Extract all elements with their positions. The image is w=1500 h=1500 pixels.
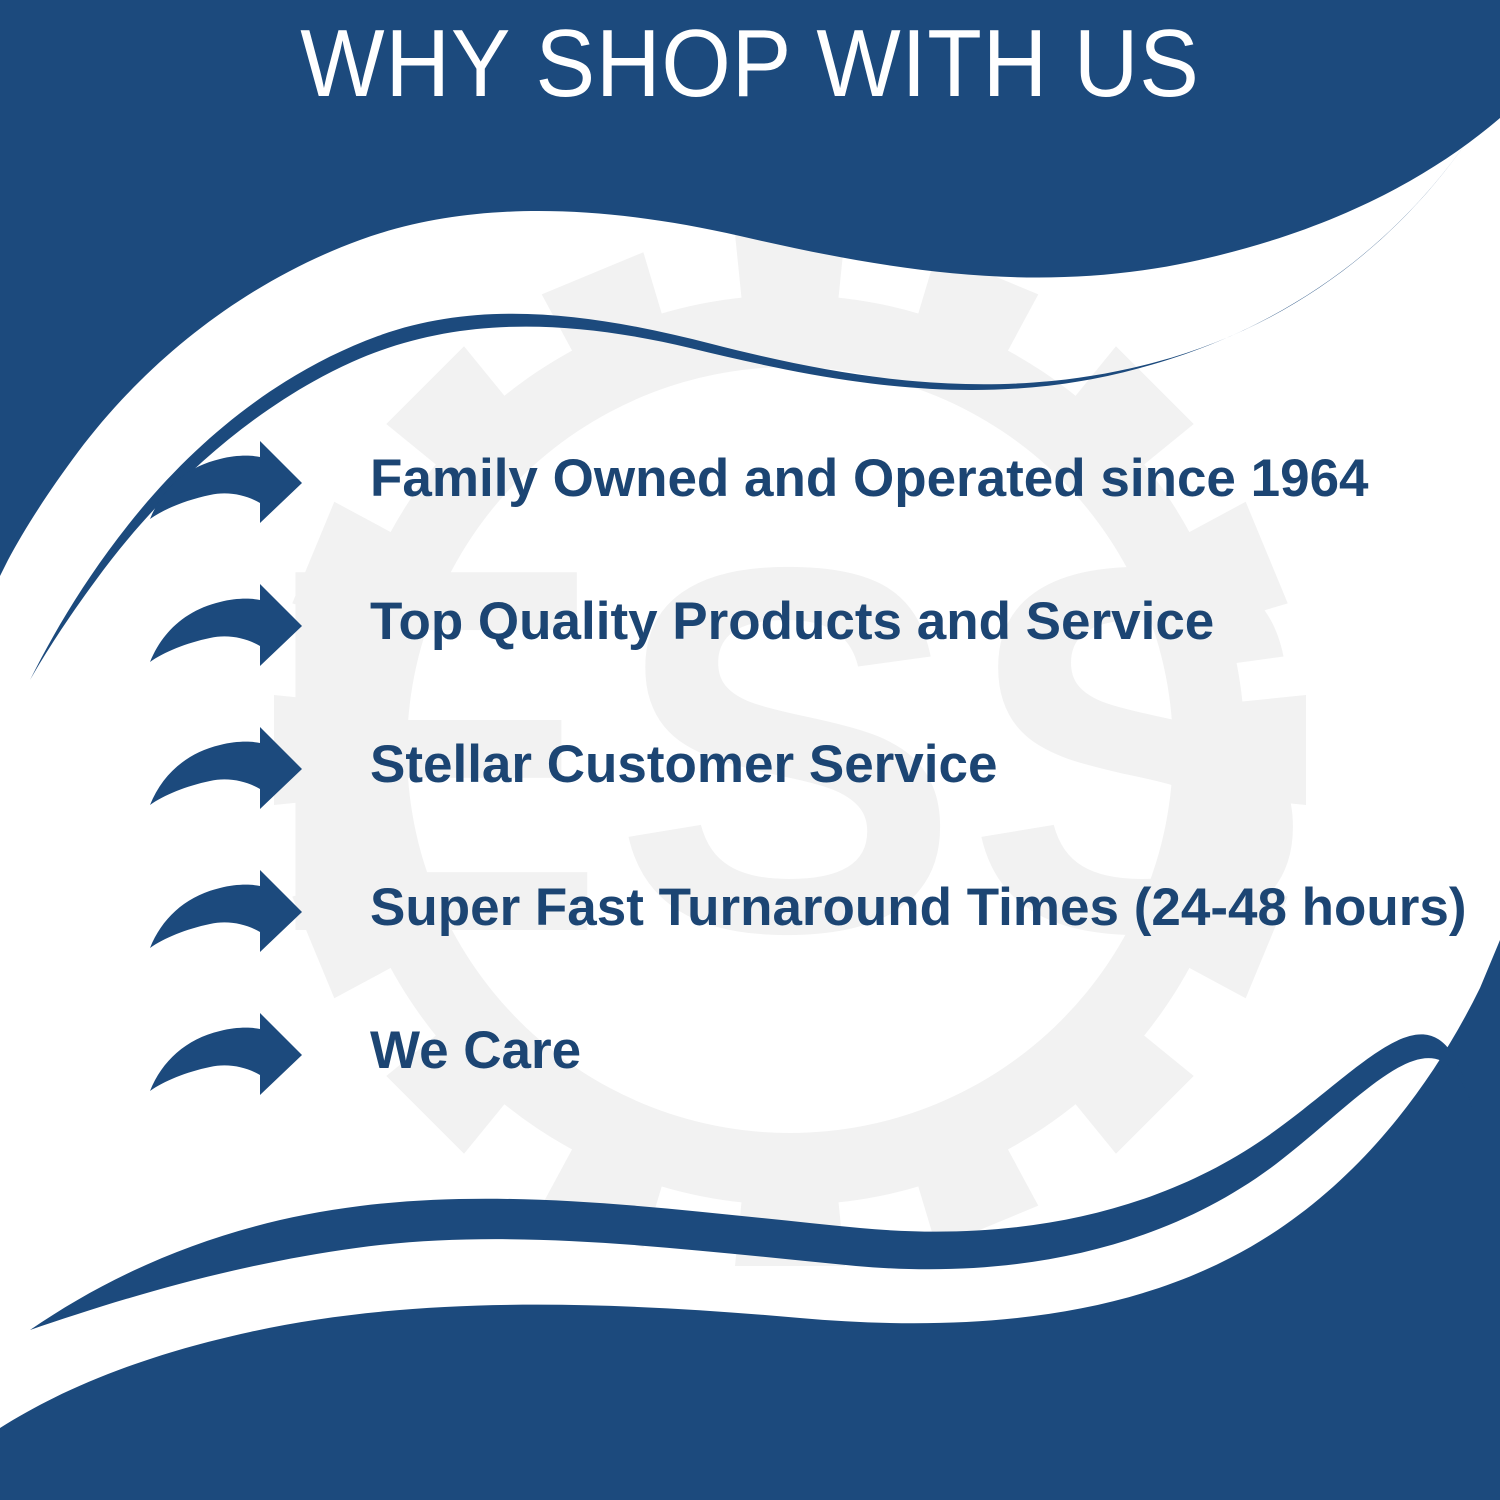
curved-arrow-right-icon — [150, 870, 302, 952]
list-item: Stellar Customer Service — [150, 723, 1450, 866]
list-item-label: Stellar Customer Service — [370, 723, 1450, 797]
page-title: WHY SHOP WITH US — [53, 14, 1448, 115]
list-item-label: Top Quality Products and Service — [370, 580, 1450, 654]
list-item: Super Fast Turnaround Times (24-48 hours… — [150, 866, 1450, 1009]
benefits-list: Family Owned and Operated since 1964 Top… — [150, 437, 1450, 1152]
curved-arrow-right-icon — [150, 727, 302, 809]
promo-graphic: ESS WHY SHOP WITH US Family Owned and Op… — [0, 0, 1500, 1500]
list-item-label: We Care — [370, 1009, 1450, 1083]
list-item: We Care — [150, 1009, 1450, 1152]
curved-arrow-right-icon — [150, 584, 302, 666]
list-item-label: Family Owned and Operated since 1964 — [370, 437, 1450, 511]
list-item: Family Owned and Operated since 1964 — [150, 437, 1450, 580]
list-item: Top Quality Products and Service — [150, 580, 1450, 723]
curved-arrow-right-icon — [150, 441, 302, 523]
list-item-label: Super Fast Turnaround Times (24-48 hours… — [370, 866, 1467, 940]
curved-arrow-right-icon — [150, 1013, 302, 1095]
